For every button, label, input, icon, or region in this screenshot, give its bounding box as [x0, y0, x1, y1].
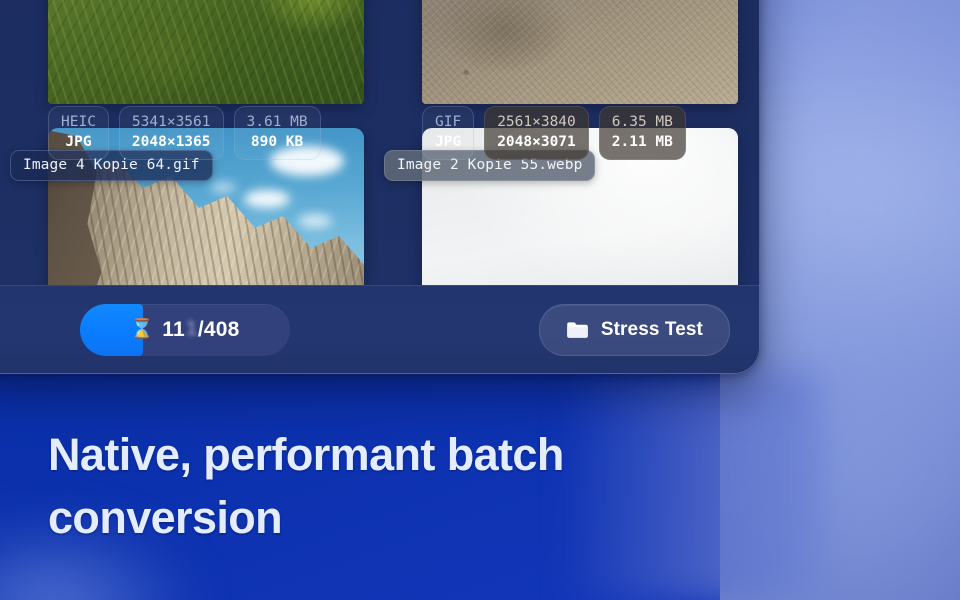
- hero-headline: Native, performant batch conversion: [48, 424, 668, 549]
- dimensions-badge: 2561×3840 2048×3071: [484, 106, 589, 160]
- dimensions-to: 2048×1365: [132, 133, 211, 152]
- screenshot-root: HEIC JPG 5341×3561 2048×1365 3.61 MB 890…: [0, 0, 960, 600]
- conversion-card[interactable]: GIF JPG 2561×3840 2048×3071 6.35 MB 2.11…: [374, 0, 714, 104]
- hero-section: Native, performant batch conversion: [48, 424, 668, 549]
- progress-total: /408: [198, 318, 240, 342]
- stress-test-button[interactable]: Stress Test: [539, 304, 730, 356]
- cloud-shape: [210, 182, 236, 193]
- cloud-shape: [298, 214, 332, 228]
- progress-ghost-digit: 1: [185, 317, 198, 341]
- conversion-grid-area: HEIC JPG 5341×3561 2048×1365 3.61 MB 890…: [0, 0, 760, 285]
- filesize-badge: 6.35 MB 2.11 MB: [599, 106, 686, 160]
- thumbnail[interactable]: [48, 0, 364, 104]
- metadata-row: GIF JPG 2561×3840 2048×3071 6.35 MB 2.11…: [422, 106, 686, 160]
- progress-counter: 11 1 /408: [162, 318, 239, 342]
- conversion-progress-bar[interactable]: ⌛ 11 1 /408: [80, 304, 290, 356]
- filesize-badge: 3.61 MB 890 KB: [234, 106, 321, 160]
- progress-label: ⌛ 11 1 /408: [80, 304, 290, 356]
- format-to: JPG: [65, 133, 91, 152]
- thumbnail-image-foliage: [48, 0, 364, 104]
- format-from: GIF: [435, 113, 461, 132]
- hourglass-icon: ⌛: [130, 320, 154, 339]
- dimensions-badge: 5341×3561 2048×1365: [119, 106, 224, 160]
- cloud-shape: [244, 190, 290, 208]
- conversion-card-grid: HEIC JPG 5341×3561 2048×1365 3.61 MB 890…: [0, 0, 730, 285]
- filesize-from: 3.61 MB: [247, 113, 308, 132]
- thumbnail[interactable]: [422, 0, 738, 104]
- progress-current: 11: [162, 318, 185, 342]
- app-window: HEIC JPG 5341×3561 2048×1365 3.61 MB 890…: [0, 0, 760, 374]
- filesize-to: 2.11 MB: [612, 133, 673, 152]
- filesize-to: 890 KB: [251, 133, 303, 152]
- format-from: HEIC: [61, 113, 96, 132]
- stress-test-label: Stress Test: [601, 319, 703, 341]
- dimensions-to: 2048×3071: [497, 133, 576, 152]
- dimensions-from: 5341×3561: [132, 113, 211, 132]
- dimensions-from: 2561×3840: [497, 113, 576, 132]
- format-badge: GIF JPG: [422, 106, 474, 160]
- bottom-toolbar: ⌛ 11 1 /408 Stress Test: [0, 285, 760, 374]
- folder-icon: [566, 321, 589, 339]
- thumbnail-image-sand: [422, 0, 738, 104]
- format-to: JPG: [435, 133, 461, 152]
- format-badge: HEIC JPG: [48, 106, 109, 160]
- filesize-from: 6.35 MB: [612, 113, 673, 132]
- conversion-card[interactable]: HEIC JPG 5341×3561 2048×1365 3.61 MB 890…: [0, 0, 340, 104]
- metadata-row: HEIC JPG 5341×3561 2048×1365 3.61 MB 890…: [48, 106, 321, 160]
